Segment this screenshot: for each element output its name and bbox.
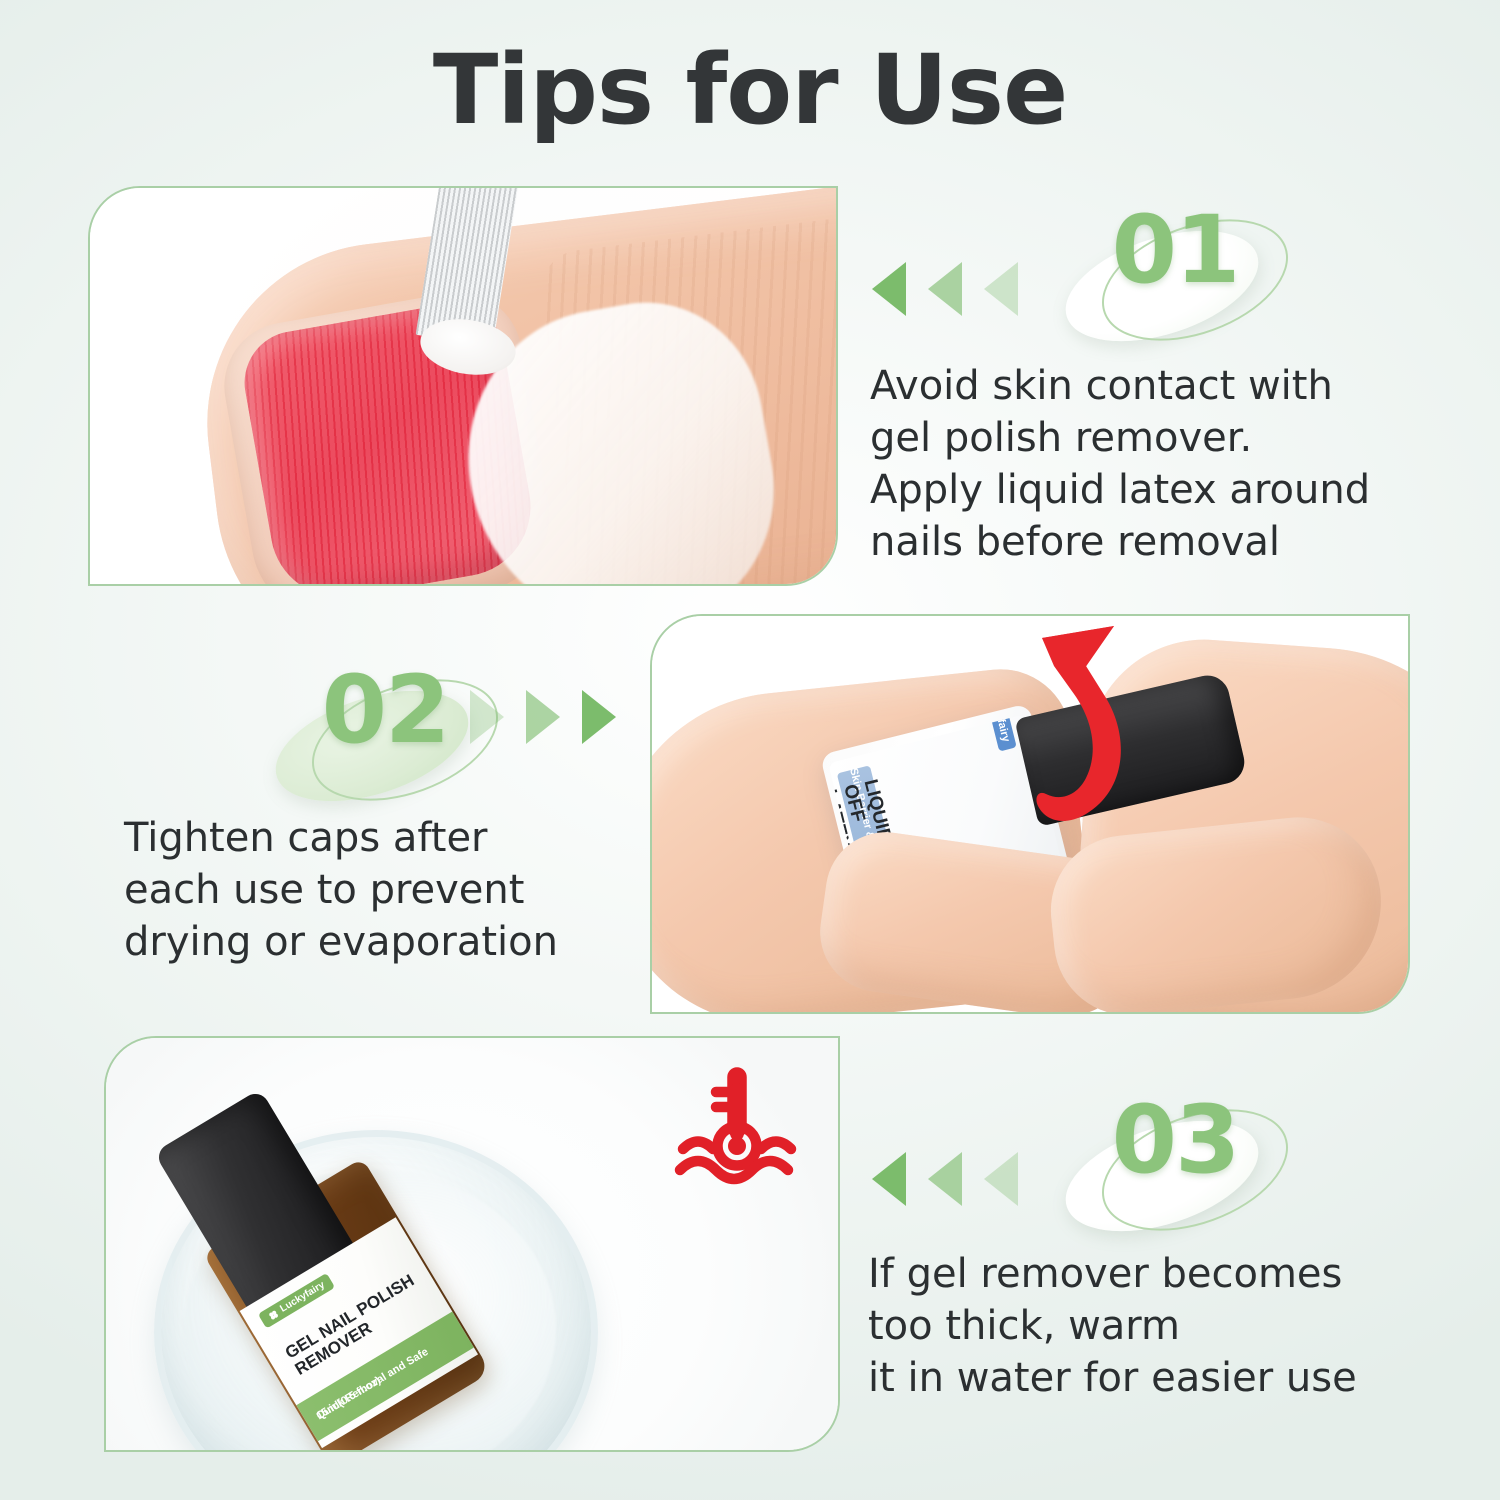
step-number: 03 <box>1040 1086 1310 1195</box>
photo-bottle-in-warm-water: Luckyfairy GEL NAIL POLISH REMOVER Quick… <box>106 1038 838 1450</box>
chevron-left-icon <box>872 262 906 316</box>
chevron-left-icon <box>872 1152 906 1206</box>
infographic-canvas: Tips for Use 01 Avoid skin contact with … <box>0 0 1500 1500</box>
chevron-left-icon <box>928 1152 962 1206</box>
chevron-left-icon <box>928 262 962 316</box>
step-2-photo-panel: Skin Barrier & Cuticle Protection LIQUID… <box>650 614 1410 1014</box>
step-1-description: Avoid skin contact with gel polish remov… <box>870 360 1440 568</box>
step-3-number-badge: 03 <box>1040 1086 1310 1236</box>
step-3-description: If gel remover becomes too thick, warm i… <box>868 1248 1428 1404</box>
page-title: Tips for Use <box>0 34 1500 146</box>
step-2-description: Tighten caps after each use to prevent d… <box>124 812 644 968</box>
brand-name: Luckyfairy <box>278 1280 327 1315</box>
clover-logo-icon <box>266 1308 280 1322</box>
step-1-chevrons <box>872 262 1018 316</box>
warm-water-thermometer-icon <box>662 1056 812 1206</box>
step-2-chevrons <box>470 690 616 744</box>
step-1-photo-panel <box>88 186 838 586</box>
step-1-number-badge: 01 <box>1040 196 1310 346</box>
chevron-right-icon <box>470 690 504 744</box>
chevron-left-icon <box>984 1152 1018 1206</box>
chevron-right-icon <box>582 690 616 744</box>
step-3-photo-panel: Luckyfairy GEL NAIL POLISH REMOVER Quick… <box>104 1036 840 1452</box>
chevron-left-icon <box>984 262 1018 316</box>
photo-nail-latex-application <box>90 188 836 584</box>
twist-cap-arrow-icon <box>982 616 1242 866</box>
step-number: 01 <box>1040 196 1310 305</box>
chevron-right-icon <box>526 690 560 744</box>
step-3-chevrons <box>872 1152 1018 1206</box>
photo-tightening-cap: Skin Barrier & Cuticle Protection LIQUID… <box>652 616 1408 1012</box>
